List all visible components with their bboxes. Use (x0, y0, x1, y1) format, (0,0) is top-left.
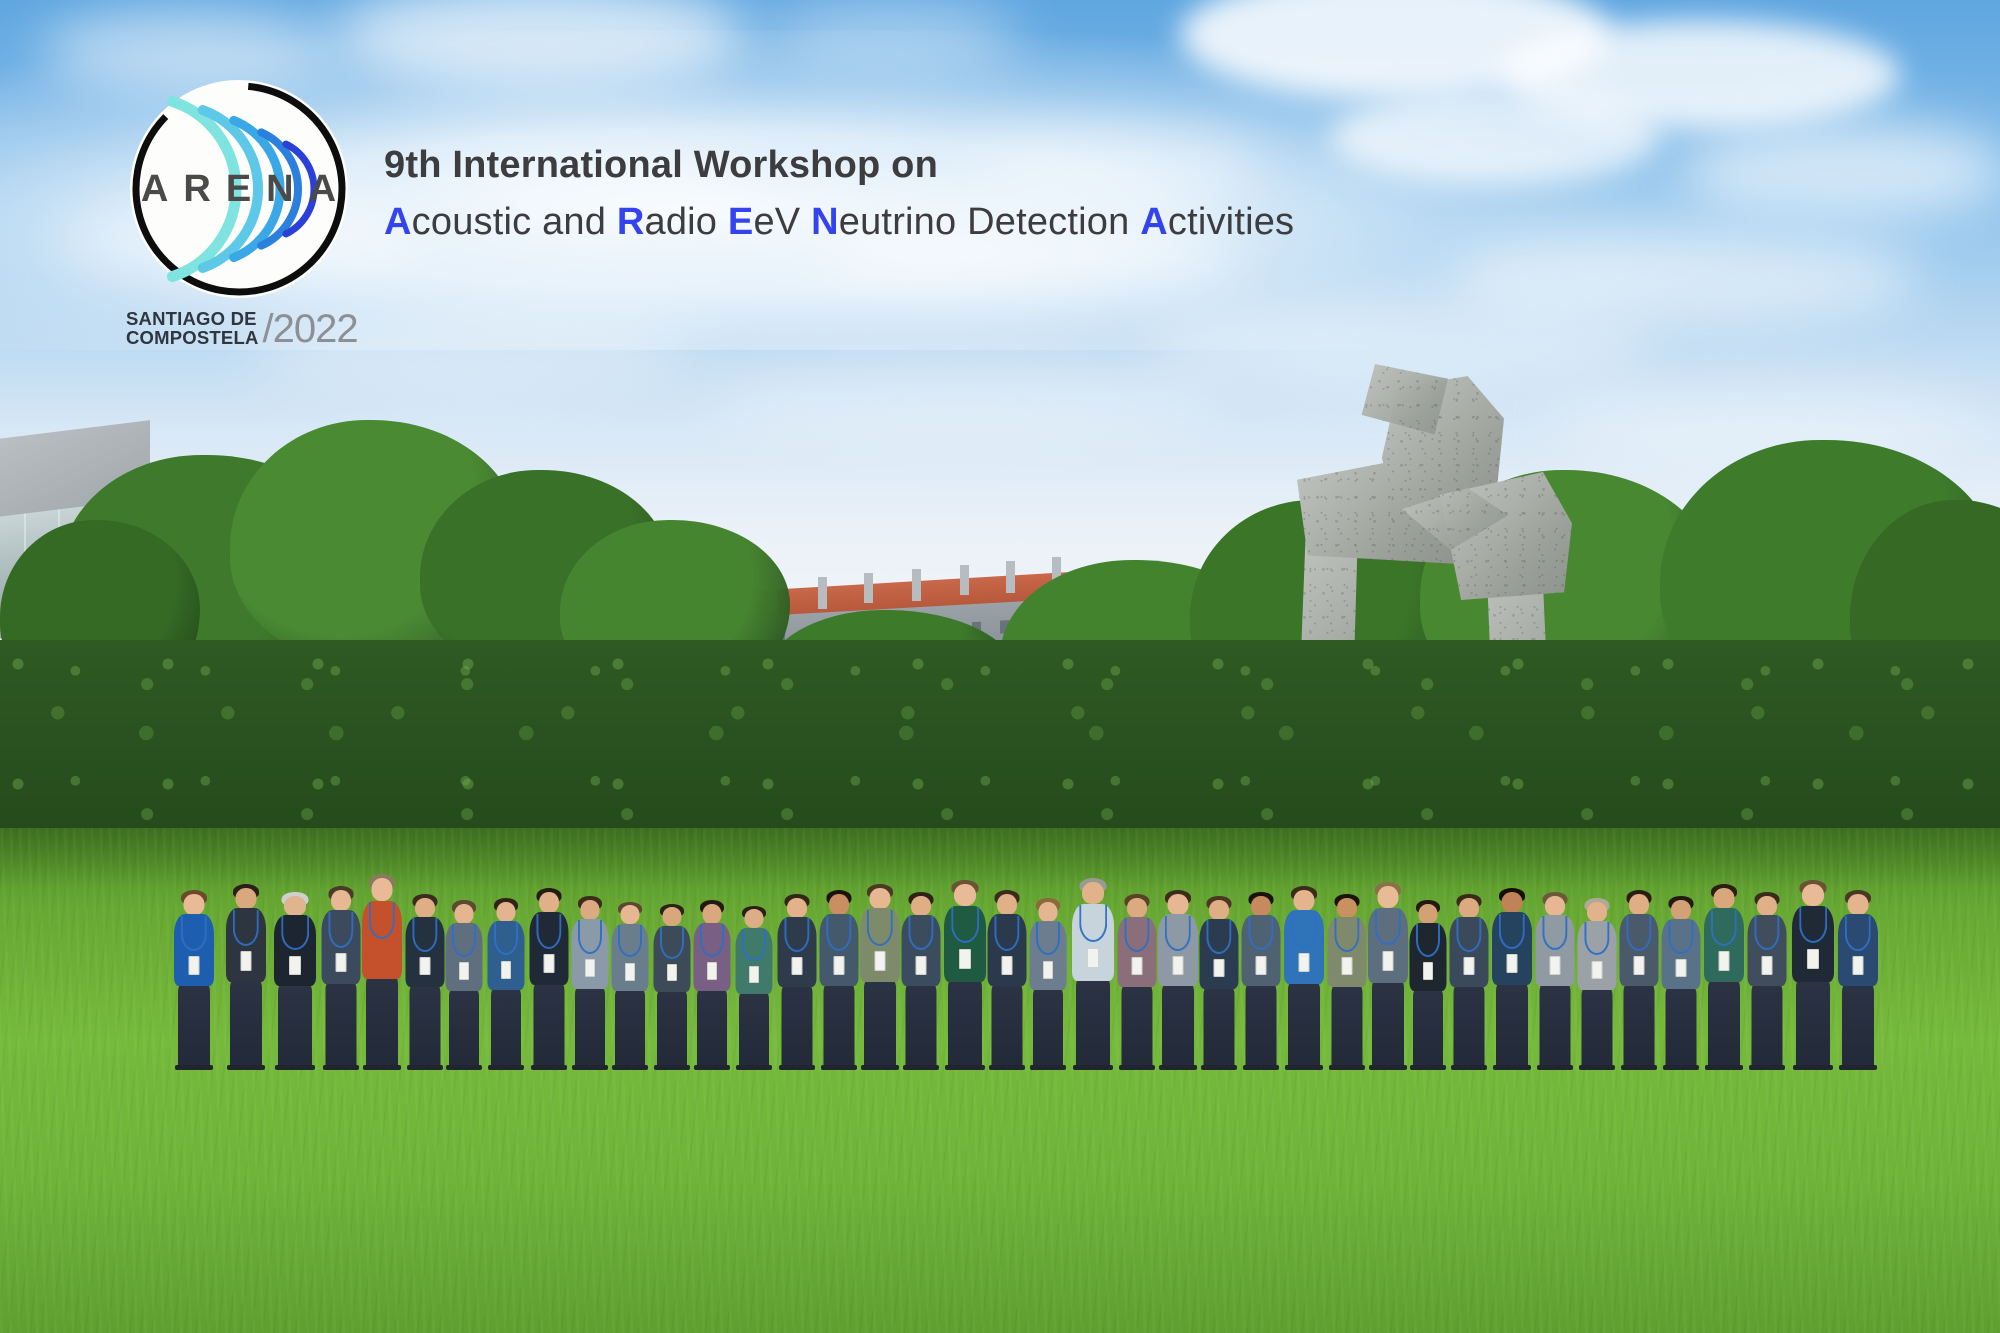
name-badge (1173, 956, 1184, 975)
head (954, 884, 976, 906)
shoes (1410, 1065, 1428, 1070)
shoes (672, 1065, 690, 1070)
shoes (1621, 1065, 1639, 1070)
legs (948, 980, 982, 1070)
legs (178, 985, 210, 1070)
lanyard (1416, 924, 1440, 957)
head (1209, 900, 1229, 920)
shoes (549, 1065, 567, 1070)
shoes (446, 1065, 464, 1070)
group-member (1618, 890, 1660, 1070)
name-badge (1807, 949, 1819, 969)
headline-accent-letter: A (384, 201, 412, 243)
lanyard (994, 916, 1019, 951)
name-badge (336, 953, 347, 972)
shoes (246, 1065, 265, 1070)
lanyard (951, 907, 979, 943)
head (703, 904, 722, 924)
head (1545, 896, 1565, 916)
name-badge (667, 964, 677, 981)
group-member (172, 890, 216, 1070)
group-member (224, 884, 268, 1070)
shoes (194, 1065, 213, 1070)
shoes (797, 1065, 815, 1070)
legs (534, 984, 565, 1070)
legs (1288, 983, 1320, 1070)
shoes (839, 1065, 857, 1070)
shoes (1555, 1065, 1573, 1070)
legs (1842, 985, 1874, 1070)
name-badge (749, 966, 759, 983)
group-member (900, 892, 942, 1070)
shoes (488, 1065, 506, 1070)
legs (1624, 985, 1655, 1070)
head (997, 894, 1017, 915)
headline-accent-letter: E (728, 201, 754, 243)
lanyard (1626, 916, 1651, 951)
shoes (464, 1065, 482, 1070)
shoes (821, 1065, 839, 1070)
headline-text-run: e (753, 201, 774, 243)
legs (992, 985, 1023, 1070)
name-badge (1214, 959, 1225, 977)
group-member (360, 874, 404, 1070)
name-badge (1043, 961, 1053, 979)
shoes (1428, 1065, 1446, 1070)
group-member (404, 894, 446, 1070)
name-badge (585, 959, 595, 977)
name-badge (1719, 951, 1730, 971)
name-badge (289, 956, 301, 975)
logo-wordmark: ARENA (130, 80, 348, 298)
poster-image: ARENA SANTIAGO DE COMPOSTELA /2022 9th I… (0, 0, 2000, 1333)
shoes (736, 1065, 754, 1070)
group-member (320, 886, 362, 1070)
shoes (363, 1065, 382, 1070)
lanyard (660, 927, 684, 959)
name-badge (792, 957, 803, 975)
name-badge (1507, 954, 1518, 973)
arena-logo: ARENA SANTIAGO DE COMPOSTELA /2022 (118, 72, 368, 362)
head (1757, 896, 1777, 916)
group-member (610, 902, 650, 1070)
lanyard (826, 916, 851, 951)
shoes (572, 1065, 590, 1070)
lanyard (1206, 920, 1231, 954)
group-member (1156, 890, 1200, 1070)
legs (1752, 985, 1783, 1070)
head (1294, 890, 1315, 911)
name-badge (1634, 956, 1645, 975)
shoes (175, 1065, 194, 1070)
shoes (1007, 1065, 1025, 1070)
legs (824, 985, 855, 1070)
group-member (1702, 884, 1746, 1070)
group-member (858, 884, 902, 1070)
logo-location-line2: COMPOSTELA (126, 329, 259, 348)
lanyard (578, 920, 602, 954)
head (1802, 884, 1824, 906)
legs (1372, 981, 1404, 1070)
name-badge (1087, 948, 1099, 968)
name-badge (1853, 956, 1864, 975)
shoes (903, 1065, 921, 1070)
name-badge (1132, 957, 1143, 975)
name-badge (834, 956, 845, 975)
group-member (1448, 894, 1490, 1070)
shoes (531, 1065, 549, 1070)
legs (230, 981, 262, 1070)
head (1629, 894, 1649, 915)
shoes (1243, 1065, 1261, 1070)
legs (1033, 989, 1063, 1070)
head (1251, 896, 1271, 916)
head (1419, 904, 1438, 924)
legs (1708, 981, 1740, 1070)
lanyard (784, 918, 809, 952)
headline-line-1: 9th International Workshop on (384, 144, 1484, 187)
headline-text-run: adio (645, 201, 728, 243)
lanyard (1456, 918, 1481, 952)
lanyard (536, 914, 561, 949)
logo-location-text: SANTIAGO DE COMPOSTELA (126, 310, 259, 348)
shoes (295, 1065, 315, 1070)
head (870, 888, 891, 909)
legs (410, 986, 441, 1070)
head (1714, 888, 1735, 909)
shoes (323, 1065, 341, 1070)
shoes (1178, 1065, 1197, 1070)
head (1671, 900, 1691, 920)
legs (1246, 985, 1277, 1070)
shoes (1858, 1065, 1877, 1070)
name-badge (916, 956, 927, 975)
head (1168, 894, 1189, 915)
lanyard (908, 916, 933, 950)
legs (1413, 990, 1443, 1070)
group-member (1282, 886, 1326, 1070)
shoes (1813, 1065, 1833, 1070)
name-badge (1256, 956, 1267, 975)
group-member (1534, 892, 1576, 1070)
legs (615, 990, 645, 1070)
lanyard (1668, 920, 1693, 954)
shoes (1597, 1065, 1615, 1070)
shoes (407, 1065, 425, 1070)
shoes (1219, 1065, 1237, 1070)
shoes (1705, 1065, 1724, 1070)
lanyard (1799, 907, 1827, 943)
shoes (1329, 1065, 1347, 1070)
name-badge (1762, 956, 1773, 975)
name-badge (1342, 957, 1353, 975)
head (745, 909, 764, 928)
name-badge (459, 962, 469, 980)
shoes (1663, 1065, 1681, 1070)
head (1039, 902, 1058, 922)
shoes (965, 1065, 985, 1070)
legs (864, 981, 896, 1070)
shoes (275, 1065, 295, 1070)
logo-letter: A (141, 168, 169, 211)
shoes (425, 1065, 443, 1070)
shoes (712, 1065, 730, 1070)
head (455, 904, 474, 924)
legs (1204, 988, 1235, 1070)
shoes (1749, 1065, 1767, 1070)
headline-accent-letter: N (811, 201, 839, 243)
shoes (1159, 1065, 1178, 1070)
legs (1076, 979, 1110, 1070)
name-badge (1383, 951, 1394, 971)
group-member (1790, 880, 1836, 1070)
lanyard (700, 924, 724, 957)
lanyard (742, 929, 766, 961)
group-member (692, 900, 732, 1070)
headline-text-run: coustic and (412, 201, 617, 243)
shoes (341, 1065, 359, 1070)
legs (449, 990, 479, 1070)
shoes (989, 1065, 1007, 1070)
head (236, 888, 257, 909)
shoes (1119, 1065, 1137, 1070)
name-badge (625, 963, 635, 981)
headline-line-2: Acoustic and Radio EeV Neutrino Detectio… (384, 201, 1484, 244)
legs (1582, 989, 1613, 1070)
shoes (945, 1065, 965, 1070)
head (1459, 898, 1479, 918)
group-member (1326, 894, 1368, 1070)
legs (739, 993, 769, 1070)
shoes (227, 1065, 246, 1070)
shoes (1137, 1065, 1155, 1070)
legs (657, 991, 687, 1070)
shoes (921, 1065, 939, 1070)
head (787, 898, 807, 918)
head (1082, 882, 1104, 904)
shoes (1388, 1065, 1407, 1070)
logo-letter: N (266, 168, 294, 211)
shoes (1639, 1065, 1657, 1070)
lanyard (1334, 918, 1359, 952)
shoes (1073, 1065, 1093, 1070)
group-member (1836, 890, 1880, 1070)
shoes (1451, 1065, 1469, 1070)
name-badge (1550, 956, 1561, 975)
group-member (942, 880, 988, 1070)
logo-year: /2022 (263, 310, 358, 348)
lanyard (1754, 916, 1779, 950)
shoes (861, 1065, 880, 1070)
shoes (694, 1065, 712, 1070)
shoes (1839, 1065, 1858, 1070)
lanyard (1248, 916, 1273, 950)
headline-text-run: eutrino Detection (839, 201, 1140, 243)
headline-text-run: ctivities (1168, 201, 1294, 243)
head (1337, 898, 1357, 918)
name-badge (1464, 957, 1475, 975)
name-badge (959, 949, 971, 969)
legs (1162, 985, 1194, 1070)
shoes (590, 1065, 608, 1070)
lanyard (618, 925, 642, 957)
shoes (1347, 1065, 1365, 1070)
group-member (1660, 896, 1702, 1070)
group-member (1240, 892, 1282, 1070)
logo-location-block: SANTIAGO DE COMPOSTELA /2022 (126, 310, 371, 348)
logo-letter: E (226, 168, 252, 211)
head (184, 894, 205, 915)
shoes (1369, 1065, 1388, 1070)
group-member (986, 890, 1028, 1070)
name-badge (1002, 956, 1013, 975)
shoes (1537, 1065, 1555, 1070)
shoes (630, 1065, 648, 1070)
name-badge (1592, 961, 1603, 979)
conference-group (0, 740, 2000, 1070)
head (372, 878, 393, 901)
legs (1454, 986, 1485, 1070)
name-badge (1299, 953, 1310, 972)
head (497, 902, 516, 922)
shoes (1093, 1065, 1113, 1070)
name-badge (501, 961, 511, 979)
shoes (1724, 1065, 1743, 1070)
shoes (1512, 1065, 1531, 1070)
head (663, 907, 682, 926)
head (581, 900, 600, 920)
head (331, 890, 351, 911)
group-member (528, 888, 570, 1070)
name-badge (420, 957, 431, 975)
legs (278, 985, 312, 1070)
shoes (1030, 1065, 1048, 1070)
group-member (734, 906, 774, 1070)
name-badge (875, 951, 886, 971)
group-member (1198, 896, 1240, 1070)
legs (366, 977, 398, 1070)
logo-letter: R (183, 168, 211, 211)
shoes (754, 1065, 772, 1070)
headline-accent-letter: R (617, 201, 645, 243)
lanyard (1584, 922, 1609, 955)
legs (575, 988, 605, 1070)
lanyard (452, 924, 476, 957)
name-badge (189, 956, 200, 975)
legs (697, 990, 727, 1070)
head (539, 892, 559, 913)
logo-letter: A (309, 168, 337, 211)
headline-block: 9th International Workshop on Acoustic a… (384, 144, 1484, 244)
group-member (272, 892, 318, 1070)
lanyard (1124, 918, 1149, 952)
name-badge (241, 951, 252, 971)
lanyard (412, 918, 437, 952)
group-member (818, 890, 860, 1070)
shoes (1048, 1065, 1066, 1070)
legs (1666, 988, 1697, 1070)
group-member (1576, 898, 1618, 1070)
shoes (612, 1065, 630, 1070)
shoes (880, 1065, 899, 1070)
group-member (1116, 894, 1158, 1070)
group-member (1408, 900, 1448, 1070)
head (1587, 902, 1607, 922)
shoes (1793, 1065, 1813, 1070)
group-member (486, 898, 526, 1070)
legs (326, 983, 357, 1070)
group-member (776, 894, 818, 1070)
shoes (1493, 1065, 1512, 1070)
cloud (700, 360, 1220, 440)
name-badge (1423, 962, 1433, 980)
legs (906, 985, 937, 1070)
shoes (1469, 1065, 1487, 1070)
shoes (1201, 1065, 1219, 1070)
shoes (1304, 1065, 1323, 1070)
group-member (1070, 878, 1116, 1070)
shoes (1261, 1065, 1279, 1070)
group-member (1366, 882, 1410, 1070)
group-member (570, 896, 610, 1070)
head (1127, 898, 1147, 918)
shoes (1681, 1065, 1699, 1070)
head (1502, 892, 1523, 913)
group-member (1028, 898, 1068, 1070)
shoes (382, 1065, 401, 1070)
shoes (506, 1065, 524, 1070)
headline-text-run: V (775, 201, 811, 243)
name-badge (707, 962, 717, 980)
lanyard (494, 922, 518, 955)
head (1378, 886, 1399, 908)
head (911, 896, 931, 916)
lanyard (1079, 905, 1107, 942)
group-member (652, 904, 692, 1070)
lanyard (1036, 922, 1060, 955)
legs (1796, 980, 1830, 1070)
lanyard (328, 912, 353, 948)
shoes (654, 1065, 672, 1070)
group-member (1490, 888, 1534, 1070)
head (284, 896, 306, 916)
shoes (779, 1065, 797, 1070)
shoes (1767, 1065, 1785, 1070)
lanyard (1542, 916, 1567, 950)
group-member (444, 900, 484, 1070)
legs (1540, 985, 1571, 1070)
shoes (1285, 1065, 1304, 1070)
head (415, 898, 435, 918)
head (621, 905, 640, 924)
legs (1332, 986, 1363, 1070)
lanyard (281, 916, 309, 950)
legs (782, 986, 813, 1070)
legs (1496, 984, 1528, 1070)
shoes (1579, 1065, 1597, 1070)
legs (491, 989, 521, 1070)
headline-accent-letter: A (1140, 201, 1168, 243)
group-member (1746, 892, 1788, 1070)
head (829, 894, 849, 915)
name-badge (544, 954, 555, 973)
name-badge (1676, 959, 1687, 977)
legs (1122, 986, 1153, 1070)
head (1848, 894, 1869, 915)
